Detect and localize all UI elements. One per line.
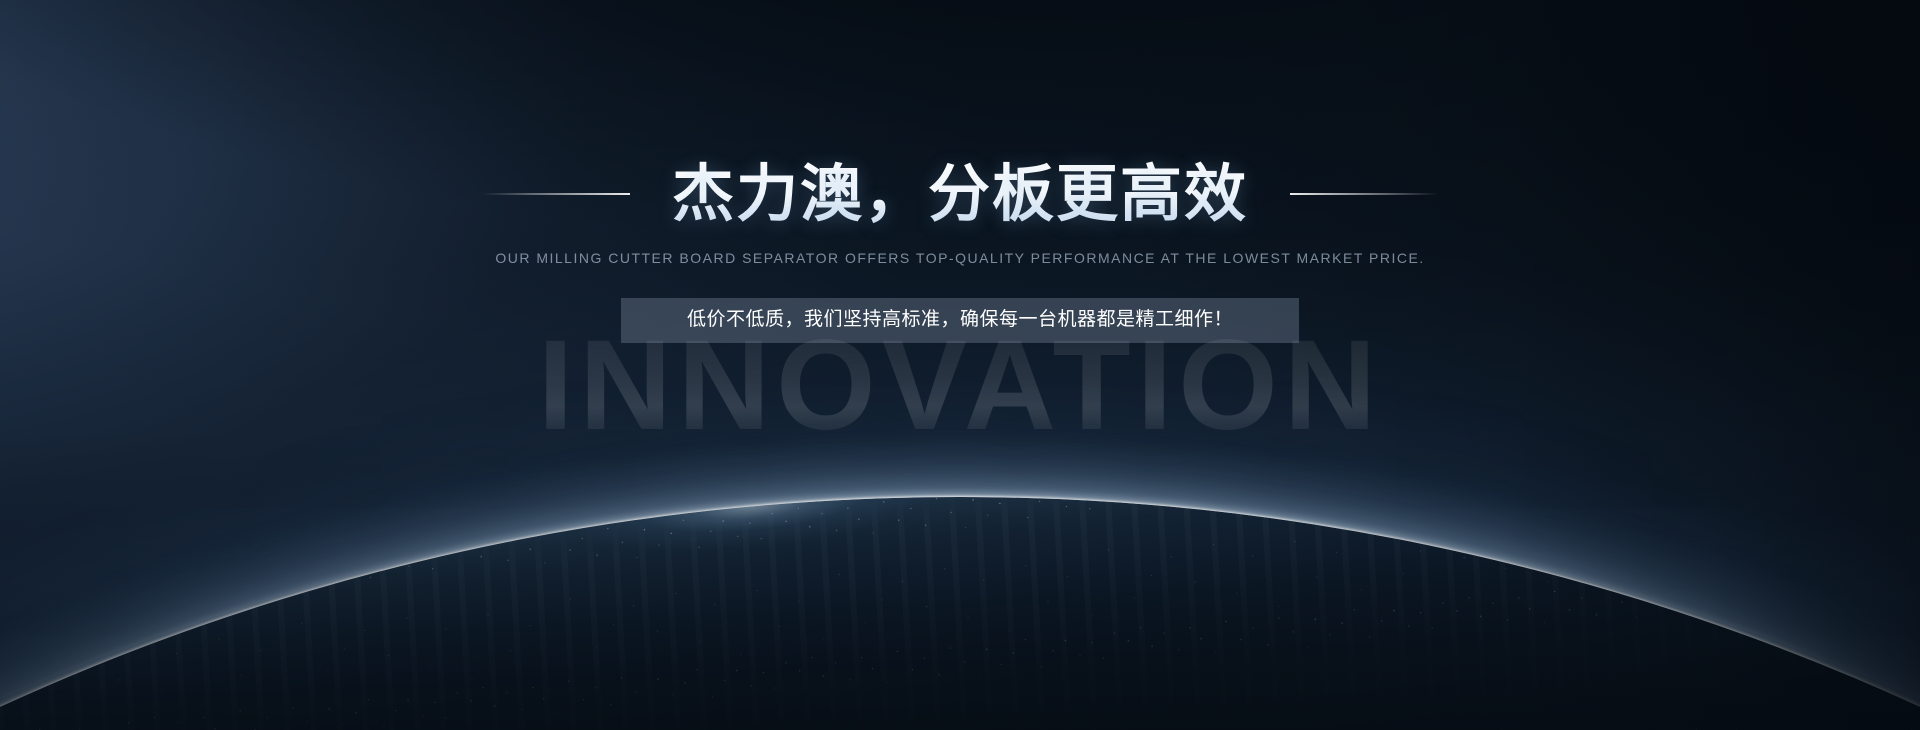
title-row: 杰力澳，分板更高效 xyxy=(0,118,1920,271)
decorative-line-right xyxy=(1290,193,1438,195)
hero-content: 杰力澳，分板更高效 OUR MILLING CUTTER BOARD SEPAR… xyxy=(0,0,1920,730)
decorative-line-left xyxy=(482,193,630,195)
hero-subtitle: OUR MILLING CUTTER BOARD SEPARATOR OFFER… xyxy=(0,250,1920,266)
highlight-banner-row: 低价不低质，我们坚持高标准，确保每一台机器都是精工细作！ xyxy=(0,298,1920,343)
hero-banner: INNOVATION 杰力澳，分板更高效 OUR MILLING CUTTER … xyxy=(0,0,1920,730)
page-title: 杰力澳，分板更高效 xyxy=(672,160,1248,229)
highlight-banner: 低价不低质，我们坚持高标准，确保每一台机器都是精工细作！ xyxy=(621,298,1299,343)
